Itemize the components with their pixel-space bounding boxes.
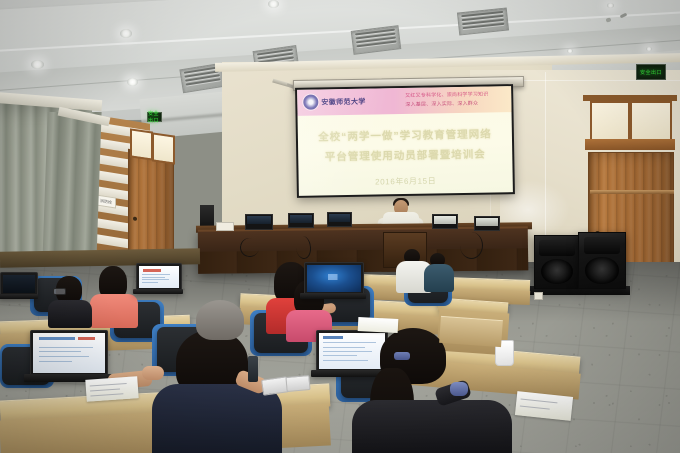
attendee-hair [196,300,244,340]
water-bottle[interactable] [248,356,258,382]
stage-laptop-screen [434,216,456,224]
screen-content-line [39,347,94,348]
speaker-woofer-icon [541,259,573,284]
laptop-screen [3,275,35,293]
ceiling-downlight-icon [268,0,279,8]
screen-content-line [39,356,89,357]
screen-glare [297,86,412,196]
glasses-icon [53,288,66,295]
screen-content-line [142,274,170,275]
laptop-screen [33,333,105,373]
desk-divider-panel [439,316,503,347]
screen-content-bar [143,269,161,272]
attendee-hand [142,366,164,380]
stage-laptop-screen [247,216,271,224]
slide-header-line-2: 深入基层、深入实际、深入群众 [405,100,478,108]
door-left-glass [130,128,153,160]
stage-laptop-screen [329,214,350,222]
stage-laptop[interactable] [432,214,458,229]
door-knob-icon [133,216,137,221]
ceiling-downlight-icon [567,49,573,53]
smartphone[interactable] [285,375,310,392]
exit-sign-right-text: 安全出口 [640,69,662,76]
door-right-push-bar[interactable] [590,190,674,194]
stage-laptop-screen [290,215,312,223]
laptop[interactable] [136,263,180,293]
screen-content-bar [78,337,95,340]
screen-content-line [142,277,165,278]
pa-speaker-right [578,232,626,289]
cable [460,232,483,259]
stage-laptop-screen [476,218,498,226]
stage-laptop[interactable] [474,216,500,231]
attendee-torso [424,264,454,292]
door-right-glass [590,101,630,141]
screen-content-line [142,282,158,283]
screen-content-line [39,351,81,352]
ceiling-downlight-icon [127,78,138,86]
wrist-scrunchie [450,382,468,396]
laptop-screen [139,266,179,288]
attendee-torso [90,294,138,328]
door-left-glass [152,132,175,164]
door-right-glass [630,101,672,141]
projection-screen: 安徽师范大学 又红又专科学化、崇尚科学学习知识 深入基层、深入实际、深入群众 全… [295,84,515,198]
ceiling-downlight-icon [120,29,132,38]
hair-scrunchie [394,352,410,360]
ceiling-downlight-icon [607,3,614,8]
speaker-woofer-icon [585,257,618,283]
stage-laptop[interactable] [327,212,352,227]
screen-content-line [323,355,357,356]
name-plate [216,222,234,231]
speaker-horn [539,240,574,256]
paper-text-line [90,389,120,392]
laptop-base[interactable] [300,293,366,299]
exit-sign-right: 安全出口 [636,64,666,80]
attendee-torso [48,300,92,328]
screen-content-line [323,342,376,343]
laptop[interactable] [0,272,36,298]
projection-screen-surface: 安徽师范大学 又红又专科学化、崇尚科学学习知识 深入基层、深入实际、深入群众 全… [297,86,513,196]
screen-content-line [323,347,365,348]
attendee-torso [352,400,512,453]
screen-content-line [39,361,72,362]
paper-text-line [91,393,124,396]
slide-header-line-1: 又红又专科学化、崇尚科学学习知识 [405,91,488,99]
windows-logo-icon [328,274,341,283]
paper-text-line [520,405,549,409]
handout-papers[interactable] [358,317,399,333]
laptop-screen [319,333,385,369]
screen-content-line [323,360,368,361]
stage-laptop[interactable] [288,213,314,228]
screen-content-line [142,279,168,280]
wall-outlet-icon [534,292,543,300]
laptop[interactable] [304,262,362,298]
laptop[interactable] [316,330,386,376]
laptop-lid [316,330,388,372]
handout-papers[interactable] [85,376,138,402]
conference-room-photo: 消防栓 安全出口 安全出口 安徽师范大学 又红又专科学化、崇尚科学学习知识 [0,0,680,453]
screen-content-bar [323,336,343,339]
laptop-lid [136,263,182,291]
screen-content-line [323,351,372,352]
speaker-horn [584,237,621,254]
laptop-lid [304,262,364,295]
ceiling-downlight-icon [646,47,652,51]
laptop[interactable] [30,330,106,382]
exit-sign-left: 安全出口 [147,112,162,122]
pa-speaker-left [534,235,580,289]
paper-text-line [90,383,126,387]
laptop-base[interactable] [0,294,38,299]
paper-text-line [521,399,558,404]
ceiling-downlight-icon [31,60,44,69]
exit-sign-left-text: 安全出口 [148,110,161,124]
laptop-screen [307,265,361,292]
door-right-transom-rail [585,139,675,150]
laptop-base[interactable] [133,289,183,294]
screen-content-bar [39,337,75,340]
laptop-lid [0,272,38,296]
stage-laptop[interactable] [245,214,273,230]
laptop-lid [30,330,108,376]
